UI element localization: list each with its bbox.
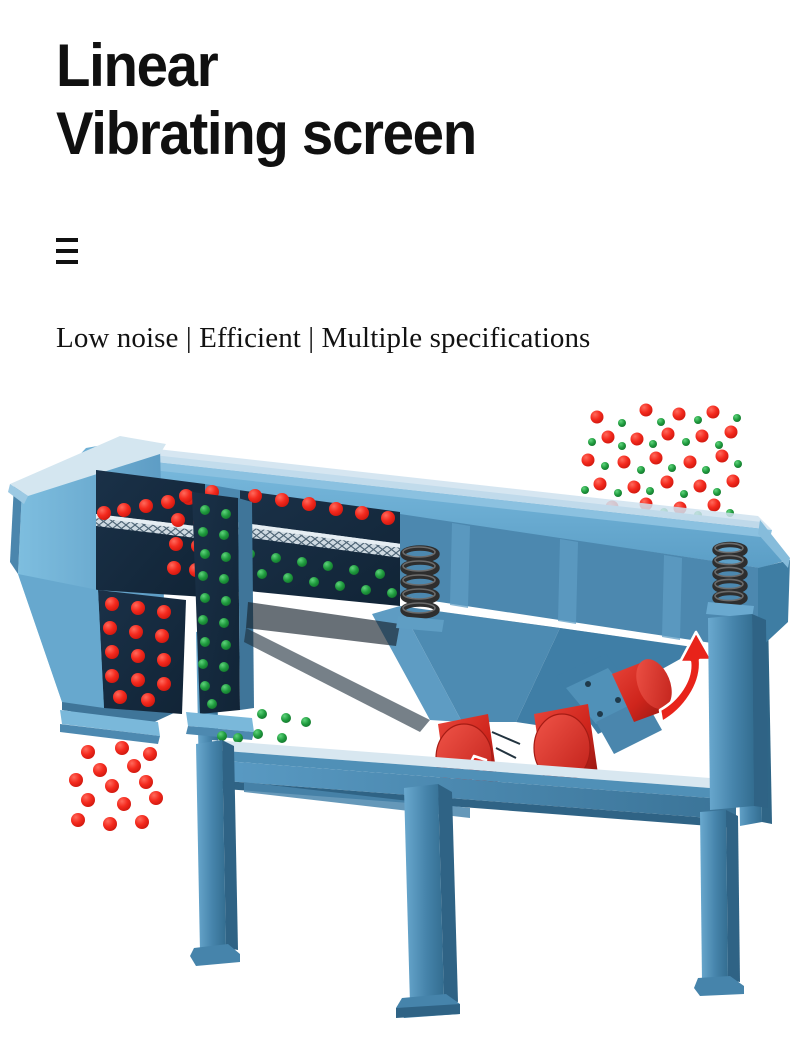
page-title-line-1: Linear: [56, 32, 714, 100]
coil-spring-left: [396, 544, 446, 634]
product-image: [0, 392, 801, 1032]
hamburger-menu-icon[interactable]: [56, 238, 78, 264]
page-title-line-2: Vibrating screen: [56, 100, 714, 168]
oversize-falling-particles: [69, 741, 163, 831]
hamburger-bar-middle: [56, 249, 78, 253]
vibrating-screen-illustration: [0, 392, 801, 1032]
page-root: Linear Vibrating screen Low noise | Effi…: [0, 0, 801, 1047]
page-heading: Linear Vibrating screen: [56, 32, 756, 168]
hamburger-bar-top: [56, 238, 78, 242]
page-subtitle: Low noise | Efficient | Multiple specifi…: [56, 318, 590, 358]
hamburger-bar-bottom: [56, 260, 78, 264]
